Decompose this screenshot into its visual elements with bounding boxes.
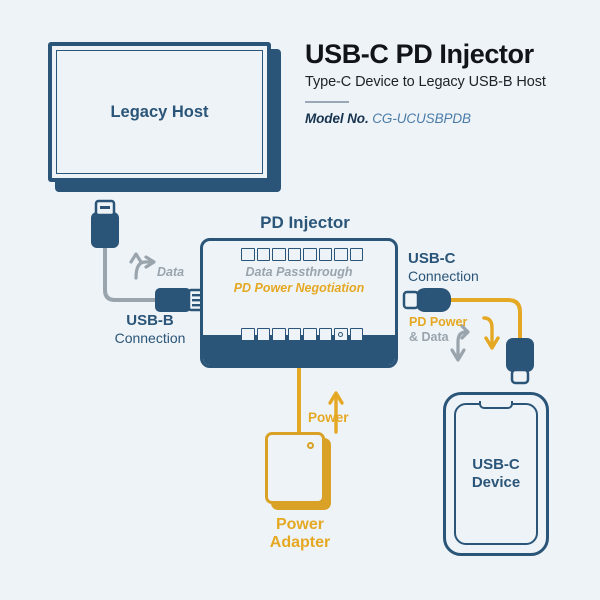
port-slot [334,248,348,261]
phone-notch [479,401,513,409]
monitor-frame: Legacy Host [48,42,271,182]
led-indicator-icon [307,442,314,449]
usb-c-device-line2: Device [472,474,520,492]
diagram-canvas: USB-C PD Injector Type-C Device to Legac… [0,0,600,600]
usb-b-cable [105,245,160,300]
legacy-host-monitor: Legacy Host [48,42,281,192]
port-slot [319,328,333,341]
port-slot [272,328,286,341]
model-value: CG-UCUSBPDB [372,111,471,126]
usb-a-plug-icon [91,201,119,248]
header-block: USB-C PD Injector Type-C Device to Legac… [305,40,585,126]
usb-c-plug-icon-right [404,288,451,312]
pd-power-negotiation-label: PD Power Negotiation [203,281,395,295]
usb-b-subtitle: Connection [90,330,210,346]
phone-body: USB-C Device [443,392,549,556]
port-slot [350,328,364,341]
port-slot [272,248,286,261]
port-slot [257,328,271,341]
port-slot [288,248,302,261]
port-slot [288,328,302,341]
header-divider [305,101,349,103]
page-title: USB-C PD Injector [305,40,585,68]
injector-top-ports [241,248,363,261]
screw-dot-icon [338,332,343,337]
injector-bottom-ports [241,328,363,341]
power-adapter-icon [265,432,331,510]
port-slot [303,248,317,261]
port-slot [257,248,271,261]
model-label: Model No. [305,111,369,126]
power-flow-label: Power [308,410,349,425]
port-slot [303,328,317,341]
injector-case: Data Passthrough PD Power Negotiation [200,238,398,368]
phone-screen: USB-C Device [454,403,538,545]
usb-c-connection-label: USB-C Connection [408,250,528,284]
data-flow-arrow-up [131,254,141,262]
page-subtitle: Type-C Device to Legacy USB-B Host [305,74,585,90]
pd-injector-device: Data Passthrough PD Power Negotiation [200,238,398,368]
injector-text-block: Data Passthrough PD Power Negotiation [203,265,395,295]
usb-c-device-label: USB-C Device [472,456,520,492]
usb-b-connection-label: USB-B Connection [90,312,210,346]
usb-b-plug-icon [155,288,203,312]
monitor-screen: Legacy Host [56,50,263,174]
usb-c-device-line1: USB-C [472,456,520,474]
model-line: Model No. CG-UCUSBPDB [305,111,585,126]
usb-b-title: USB-B [90,312,210,329]
pd-power-flow-label: PD Power [409,315,467,329]
adapter-body [265,432,325,504]
data-flow-label: Data [157,265,184,279]
legacy-host-label: Legacy Host [110,103,208,122]
power-adapter-label: Power Adapter [245,516,355,553]
data-flow-label-right: & Data [409,330,449,344]
power-adapter-line2: Adapter [245,534,355,552]
data-passthrough-label: Data Passthrough [203,265,395,279]
usb-c-subtitle: Connection [408,268,528,284]
port-slot [241,328,255,341]
injector-title: PD Injector [200,213,410,233]
usb-c-plug-icon-device [506,338,534,383]
power-adapter-line1: Power [245,516,355,534]
screw-port [334,328,348,341]
port-slot [241,248,255,261]
port-slot [350,248,364,261]
usb-c-title: USB-C [408,250,528,267]
smartphone-icon: USB-C Device [443,392,553,560]
port-slot [319,248,333,261]
